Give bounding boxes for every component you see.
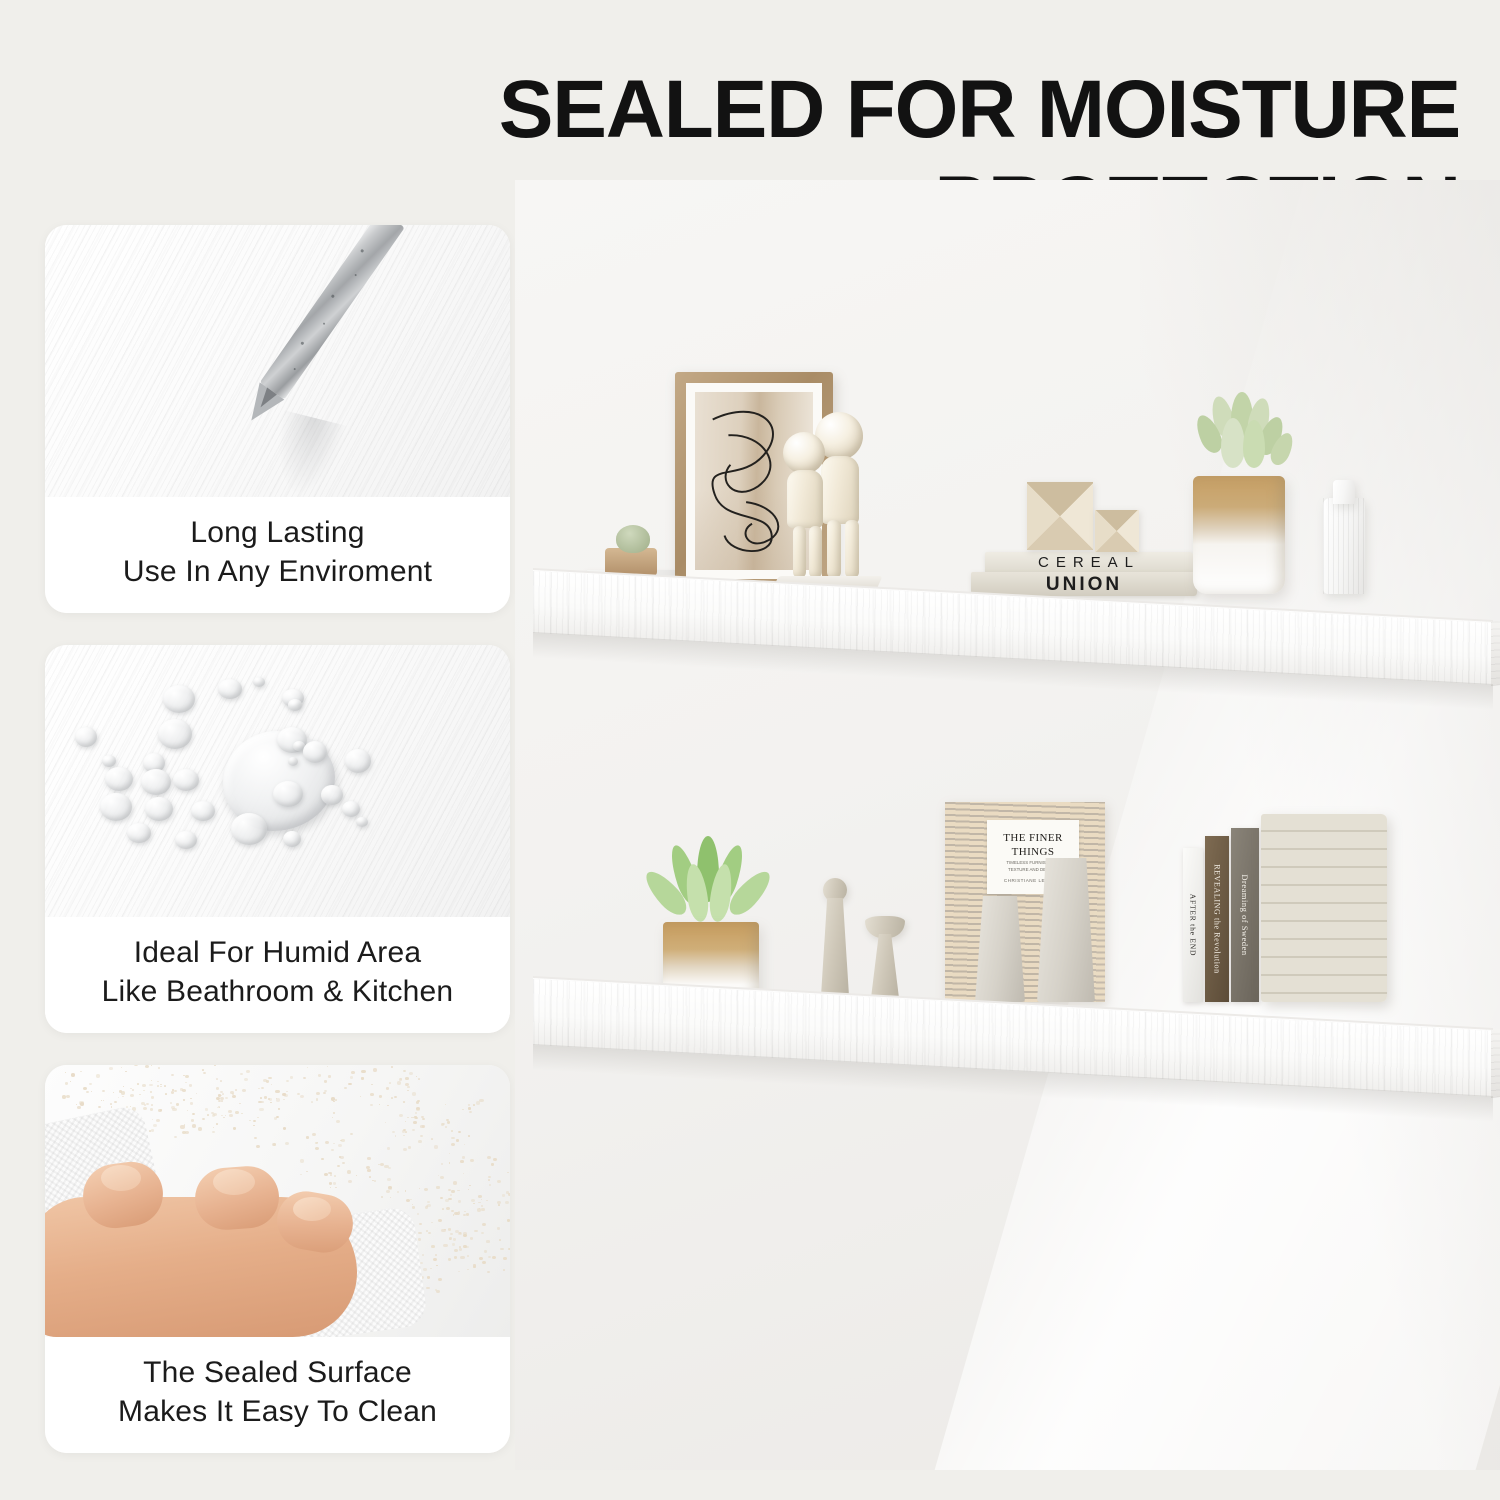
water-droplet <box>345 749 371 773</box>
crumb <box>192 1124 196 1127</box>
crumb <box>171 1106 175 1109</box>
crumb <box>86 1091 88 1093</box>
pearlescent-couple-figurine <box>769 412 881 594</box>
water-droplet <box>218 679 242 699</box>
crumb <box>331 1149 333 1151</box>
crumb <box>157 1085 159 1087</box>
crumb <box>473 1264 476 1266</box>
water-droplet <box>102 755 116 767</box>
water-droplet <box>288 699 302 711</box>
crumb <box>400 1078 402 1080</box>
grey-cone-vase-tall <box>1037 858 1095 1002</box>
crumb <box>413 1121 417 1124</box>
crumb <box>183 1099 184 1100</box>
crumb <box>408 1146 412 1149</box>
crumb <box>122 1096 123 1097</box>
crumb <box>402 1130 405 1133</box>
crumb <box>306 1136 309 1138</box>
crumb <box>253 1120 256 1122</box>
shelves-scene: CEREAL UNION <box>515 180 1500 1470</box>
crumb <box>497 1227 500 1230</box>
crumb <box>203 1072 206 1074</box>
crumb <box>216 1123 219 1125</box>
photo-screwdriver-scratch <box>45 225 510 497</box>
green-cactus-icon <box>616 525 650 553</box>
crumb <box>491 1163 495 1166</box>
water-droplet <box>163 685 195 713</box>
book-spine-dreaming-of-sweden: Dreaming of Sweden <box>1231 828 1259 1002</box>
crumb <box>300 1095 304 1098</box>
crumb <box>453 1181 457 1184</box>
cream-book-stack <box>1261 814 1387 1002</box>
crumb <box>207 1114 209 1116</box>
crumb <box>306 1171 308 1173</box>
crumb <box>145 1065 149 1068</box>
crumb <box>418 1078 420 1080</box>
crumb <box>101 1100 102 1101</box>
crumb <box>286 1080 289 1082</box>
crumb <box>264 1096 267 1098</box>
crumb <box>488 1176 490 1178</box>
crumb <box>445 1126 447 1128</box>
crumb <box>388 1187 391 1190</box>
crumb <box>403 1070 406 1072</box>
crumb <box>497 1201 501 1204</box>
upper-shelf-end-cap <box>1491 619 1500 686</box>
water-droplet <box>273 781 303 807</box>
crumb <box>443 1244 447 1247</box>
crumb <box>196 1093 197 1094</box>
crumb <box>202 1118 204 1120</box>
feature-card-caption: Ideal For Humid Area Like Beathroom & Ki… <box>45 917 510 1033</box>
crumb <box>412 1204 413 1205</box>
crumb <box>458 1232 462 1235</box>
crumb <box>442 1208 444 1210</box>
crumb <box>164 1085 166 1087</box>
crumb <box>65 1082 68 1085</box>
crumb <box>371 1084 373 1085</box>
crumb <box>436 1186 439 1188</box>
crumb <box>456 1139 459 1141</box>
crumb <box>160 1109 162 1110</box>
crumb <box>137 1083 139 1085</box>
crumb <box>225 1097 228 1099</box>
crumb <box>216 1087 219 1090</box>
crumb <box>470 1159 474 1162</box>
crumb <box>448 1228 451 1231</box>
crumb <box>392 1131 395 1133</box>
lower-shelf-end-cap <box>1491 1027 1500 1098</box>
crumb <box>333 1143 334 1144</box>
crumb <box>258 1101 261 1104</box>
crumb <box>202 1069 204 1071</box>
crumb <box>426 1287 430 1290</box>
crumb <box>229 1114 233 1117</box>
crumb <box>427 1201 430 1203</box>
water-droplet <box>145 797 173 821</box>
crumb <box>344 1087 346 1089</box>
crumb <box>453 1238 456 1240</box>
crumb <box>228 1110 232 1113</box>
crumb <box>151 1129 154 1131</box>
crumb <box>103 1100 104 1101</box>
crumb <box>441 1123 445 1126</box>
crumb <box>334 1175 336 1177</box>
taupe-candlestick-short <box>861 916 909 1002</box>
crumb <box>233 1127 236 1129</box>
photo-hand-wiping <box>45 1065 510 1337</box>
crumb <box>370 1104 373 1106</box>
crumb <box>441 1163 443 1164</box>
crumb <box>433 1258 437 1261</box>
crumb <box>176 1103 180 1106</box>
water-droplet <box>288 757 298 766</box>
crumb <box>96 1074 100 1077</box>
crumb <box>221 1115 223 1116</box>
crumb <box>479 1257 483 1260</box>
water-droplet <box>75 727 97 747</box>
crumb <box>381 1196 383 1197</box>
crumb <box>422 1118 425 1120</box>
book-cereal: CEREAL <box>985 552 1193 574</box>
crumb <box>338 1144 342 1147</box>
crumb <box>329 1182 332 1184</box>
crumb <box>146 1103 148 1105</box>
crumb <box>235 1089 237 1091</box>
crumb <box>278 1108 280 1109</box>
crumb <box>449 1162 451 1163</box>
crumb <box>412 1129 415 1131</box>
crumb <box>324 1080 327 1083</box>
hand-icon <box>45 1197 357 1337</box>
crumb <box>198 1127 202 1130</box>
crumb <box>405 1121 406 1122</box>
crumb <box>499 1239 502 1241</box>
crumb <box>460 1256 464 1259</box>
crumb <box>423 1268 426 1271</box>
crumb <box>470 1237 473 1239</box>
feature-card-easy-clean: The Sealed Surface Makes It Easy To Clea… <box>45 1065 510 1453</box>
crumb <box>254 1137 257 1140</box>
crumb <box>445 1199 449 1202</box>
grey-cone-vase-short <box>975 896 1025 1002</box>
crumb <box>256 1145 260 1148</box>
crumb <box>424 1188 428 1191</box>
crumb <box>489 1184 491 1185</box>
photo-water-droplets <box>45 645 510 917</box>
water-droplet <box>253 677 265 687</box>
crumb <box>142 1084 146 1087</box>
crumb <box>508 1248 510 1250</box>
crumb <box>416 1107 420 1110</box>
crumb <box>153 1124 157 1127</box>
crumb <box>503 1257 506 1260</box>
water-droplet <box>100 793 132 821</box>
crumb <box>399 1114 403 1117</box>
succulent-plant <box>1187 392 1299 484</box>
crumb <box>315 1147 319 1151</box>
crumb <box>315 1142 318 1144</box>
product-feature-image: SEALED FOR MOISTURE PROTECTION Long Last… <box>0 0 1500 1500</box>
crumb <box>261 1087 264 1089</box>
crumb <box>451 1137 454 1140</box>
crumb <box>410 1199 412 1200</box>
spine-title: REVEALING the Revolution <box>1213 864 1222 974</box>
crumb <box>452 1243 456 1246</box>
book-spine-after-the-end: AFTER the END <box>1183 848 1203 1002</box>
crumb <box>339 1156 342 1158</box>
crumb <box>502 1194 505 1196</box>
crumb <box>451 1210 453 1212</box>
crumb <box>282 1093 286 1096</box>
water-droplet <box>191 801 215 821</box>
crumb <box>80 1071 81 1072</box>
crumb <box>323 1092 326 1094</box>
crumb <box>487 1156 491 1159</box>
crumb <box>476 1101 480 1104</box>
geometric-wood-block-large <box>1027 482 1093 550</box>
water-droplet <box>141 769 171 795</box>
crumb <box>232 1093 234 1095</box>
water-droplet <box>173 769 199 791</box>
crumb <box>409 1072 413 1075</box>
book-spine-revealing-the-revolution: REVEALING the Revolution <box>1205 836 1229 1002</box>
water-droplet <box>158 719 192 749</box>
crumb <box>486 1240 489 1243</box>
crumb <box>397 1191 399 1192</box>
crumb <box>241 1113 243 1115</box>
crumb <box>419 1223 422 1226</box>
crumb <box>214 1065 216 1066</box>
crumb <box>151 1065 152 1066</box>
crumb <box>268 1077 271 1080</box>
crumb <box>417 1100 419 1102</box>
crumb <box>418 1140 422 1143</box>
water-droplet <box>105 767 133 791</box>
water-droplet <box>283 831 301 847</box>
crumb <box>440 1197 443 1199</box>
crumb <box>385 1122 386 1123</box>
crumb <box>350 1076 353 1079</box>
crumb <box>71 1073 75 1076</box>
crumb <box>459 1248 462 1251</box>
crumb <box>447 1121 450 1123</box>
crumb <box>458 1214 459 1215</box>
crumb <box>316 1092 320 1095</box>
crumb <box>482 1223 486 1226</box>
book-union: UNION <box>971 572 1197 596</box>
crumb <box>434 1145 438 1148</box>
spine-title: AFTER the END <box>1189 894 1198 956</box>
crumb <box>276 1098 280 1101</box>
crumb <box>388 1167 391 1169</box>
crumb <box>481 1199 482 1200</box>
geometric-wood-block-small <box>1095 510 1139 552</box>
crumb <box>467 1255 469 1257</box>
water-droplet <box>231 813 267 845</box>
crumb <box>216 1078 218 1080</box>
crumb <box>465 1246 469 1249</box>
crumb <box>507 1219 510 1222</box>
crumb <box>170 1102 172 1104</box>
water-droplet <box>321 785 343 805</box>
crumb <box>387 1147 390 1149</box>
crumb <box>386 1190 390 1193</box>
ribbed-white-bottle-vase <box>1323 498 1365 594</box>
crumb <box>407 1086 409 1088</box>
crumb <box>473 1266 475 1268</box>
crumb <box>468 1107 471 1109</box>
water-droplet <box>356 817 368 827</box>
crumb <box>221 1100 223 1102</box>
crumb <box>261 1101 264 1103</box>
crumb <box>121 1091 125 1095</box>
crumb <box>451 1190 454 1193</box>
crumb <box>336 1120 340 1123</box>
bottle-ribs <box>1323 498 1365 594</box>
crumb <box>180 1088 183 1091</box>
crumb <box>420 1262 422 1264</box>
crumb <box>415 1112 416 1113</box>
crumb <box>463 1234 467 1237</box>
water-droplet <box>303 741 327 763</box>
crumb <box>478 1195 481 1198</box>
water-droplet <box>342 801 360 817</box>
crumb <box>397 1081 401 1084</box>
crumb <box>328 1075 331 1077</box>
crumb <box>303 1077 305 1079</box>
crumb <box>454 1249 458 1252</box>
crumb <box>151 1104 153 1106</box>
crumb <box>372 1180 373 1181</box>
crumb <box>62 1095 66 1098</box>
crumb <box>290 1076 293 1079</box>
crumb <box>420 1135 423 1137</box>
spine-title: Dreaming of Sweden <box>1240 874 1250 955</box>
crumb <box>190 1102 193 1105</box>
crumb <box>481 1205 483 1206</box>
crumb <box>143 1090 145 1091</box>
crumb <box>98 1106 101 1108</box>
crumb <box>275 1090 279 1093</box>
crumb <box>149 1084 152 1087</box>
crumb <box>213 1127 214 1128</box>
crumb <box>387 1178 390 1181</box>
crumb <box>244 1078 248 1081</box>
feature-card-humid-area: Ideal For Humid Area Like Beathroom & Ki… <box>45 645 510 1033</box>
gold-white-ombre-planter <box>1193 476 1285 594</box>
crumb <box>121 1067 122 1068</box>
crumb <box>417 1213 419 1214</box>
crumb <box>487 1271 490 1273</box>
crumb <box>367 1169 370 1171</box>
crumb <box>441 1229 445 1232</box>
crumb <box>114 1101 116 1103</box>
crumb <box>391 1097 393 1099</box>
book-cereal-title: CEREAL <box>985 554 1193 571</box>
crumb <box>77 1106 81 1109</box>
finer-things-title: THE FINER THINGS <box>987 832 1079 860</box>
crumb <box>185 1131 189 1134</box>
crumb <box>318 1074 321 1077</box>
crumb <box>498 1204 500 1206</box>
crumb <box>351 1071 355 1074</box>
crumb <box>451 1130 453 1132</box>
crumb <box>150 1091 152 1092</box>
taupe-candlestick-tall <box>815 878 855 1002</box>
crumb <box>431 1245 435 1248</box>
crumb <box>321 1158 323 1160</box>
crumb <box>464 1211 466 1212</box>
crumb <box>431 1222 433 1223</box>
crumb <box>330 1174 333 1176</box>
crumb <box>367 1157 370 1160</box>
crumb <box>174 1136 177 1138</box>
crumb <box>325 1141 329 1144</box>
feature-card-long-lasting: Long Lasting Use In Any Enviroment <box>45 225 510 613</box>
crumb <box>403 1148 407 1151</box>
crumb <box>386 1087 390 1090</box>
feature-card-caption: The Sealed Surface Makes It Easy To Clea… <box>45 1337 510 1453</box>
crumb <box>180 1125 184 1128</box>
crumb <box>436 1290 440 1293</box>
crumb <box>462 1156 465 1158</box>
crumb <box>373 1068 377 1071</box>
crumb <box>333 1112 335 1113</box>
crumb <box>324 1173 328 1176</box>
crumb <box>508 1193 510 1195</box>
crumb <box>80 1102 84 1105</box>
crumb <box>316 1098 319 1100</box>
crumb <box>370 1093 374 1096</box>
crumb <box>412 1092 416 1095</box>
crumb <box>467 1269 468 1270</box>
feature-card-caption: Long Lasting Use In Any Enviroment <box>45 497 510 613</box>
crumb <box>446 1207 450 1210</box>
crumb <box>361 1070 365 1073</box>
crumb <box>405 1077 409 1080</box>
crumb <box>453 1214 454 1215</box>
crumb <box>379 1095 383 1098</box>
bottle-neck <box>1333 480 1355 504</box>
crumb <box>481 1208 484 1211</box>
crumb <box>134 1065 137 1066</box>
water-droplet <box>175 831 197 849</box>
crumb <box>270 1102 272 1104</box>
crumb <box>190 1098 191 1099</box>
crumb <box>205 1108 208 1110</box>
crumb <box>185 1075 189 1078</box>
water-droplet <box>127 823 151 843</box>
